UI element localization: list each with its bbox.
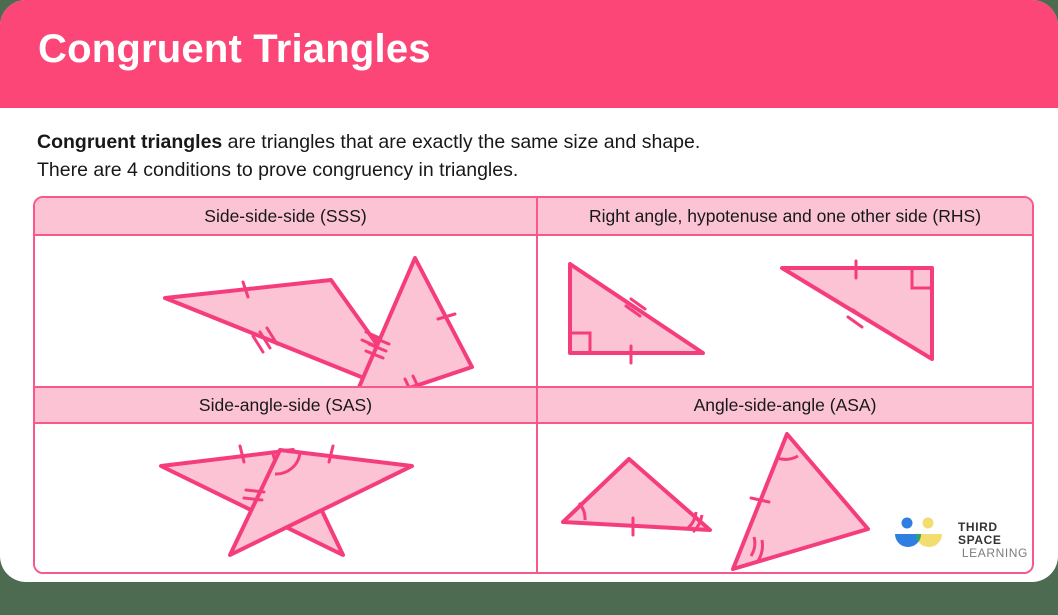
sas-triangles-figure (35, 424, 536, 574)
header-label-asa: Angle-side-angle (ASA) (694, 395, 877, 416)
rhs-triangle-1 (570, 264, 703, 363)
table-figure-row-1 (35, 236, 1032, 386)
rhs-triangles-figure (538, 236, 1030, 386)
figure-cell-rhs (538, 236, 1032, 386)
sss-triangles-figure (35, 236, 536, 386)
header-cell-rhs: Right angle, hypotenuse and one other si… (538, 198, 1032, 236)
table-header-row-2: Side-angle-side (SAS) Angle-side-angle (… (35, 386, 1032, 424)
header-cell-asa: Angle-side-angle (ASA) (538, 386, 1032, 424)
header-cell-sss: Side-side-side (SSS) (35, 198, 538, 236)
logo-dot-blue (902, 518, 913, 529)
header-cell-sas: Side-angle-side (SAS) (35, 386, 538, 424)
figure-cell-sss (35, 236, 538, 386)
intro-lead: Congruent triangles (37, 131, 222, 153)
rhs-triangle-2 (782, 261, 932, 359)
header-label-sss: Side-side-side (SSS) (204, 206, 366, 227)
header-banner: Congruent Triangles (0, 0, 1058, 108)
logo-dot-yellow (923, 518, 934, 529)
asa-triangle-1 (563, 459, 710, 535)
congruency-conditions-table: Side-side-side (SSS) Right angle, hypote… (33, 196, 1034, 574)
intro-line2: There are 4 conditions to prove congruen… (37, 156, 1017, 184)
intro-line1-rest: are triangles that are exactly the same … (222, 131, 700, 153)
header-label-rhs: Right angle, hypotenuse and one other si… (589, 206, 981, 227)
third-space-learning-logo-mark (893, 517, 951, 551)
intro-paragraph: Congruent triangles are triangles that a… (37, 128, 1017, 184)
table-header-row-1: Side-side-side (SSS) Right angle, hypote… (35, 198, 1032, 236)
page-title: Congruent Triangles (38, 27, 431, 72)
brand-logo: THIRD SPACE LEARNING (893, 513, 1028, 561)
logo-wordmark: THIRD SPACE LEARNING (958, 521, 1028, 560)
logo-line-1: THIRD SPACE (958, 521, 1028, 547)
sss-triangle-2 (350, 258, 472, 386)
figure-cell-sas (35, 424, 538, 574)
header-label-sas: Side-angle-side (SAS) (199, 395, 372, 416)
table-figure-row-2 (35, 424, 1032, 574)
asa-triangle-2 (733, 434, 868, 569)
logo-line-2: LEARNING (958, 547, 1028, 560)
infographic-card: Congruent Triangles Congruent triangles … (0, 0, 1058, 582)
